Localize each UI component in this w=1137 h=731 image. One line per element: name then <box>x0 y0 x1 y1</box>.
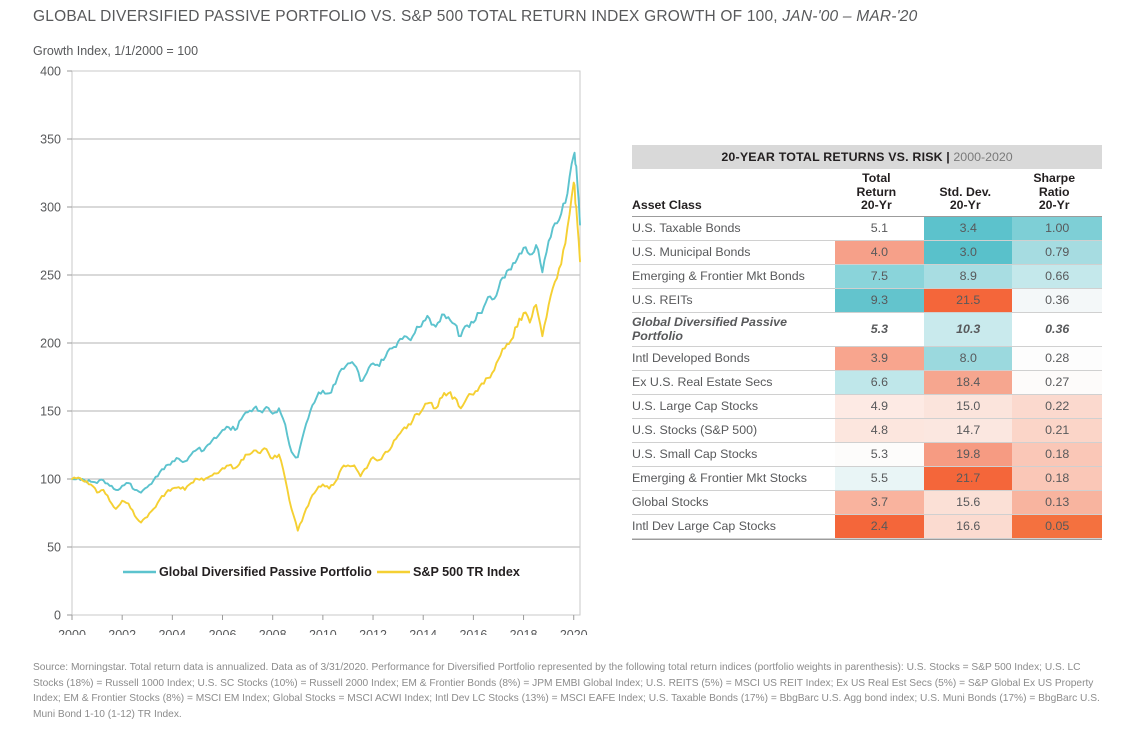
table-head: Asset Class Total Return 20-Yr Std. Dev.… <box>632 172 1102 216</box>
table-body: U.S. Taxable Bonds5.13.41.00U.S. Municip… <box>632 216 1102 538</box>
cell-std-dev: 15.6 <box>924 490 1012 514</box>
col-header-total-return-l3: 20-Yr <box>835 199 918 213</box>
x-tick-label: 2018 <box>510 628 538 635</box>
cell-total-return: 6.6 <box>835 370 924 394</box>
table-row: U.S. Large Cap Stocks4.915.00.22 <box>632 394 1102 418</box>
y-tick-marks <box>67 71 72 615</box>
table-banner-period: 2000-2020 <box>953 150 1012 164</box>
table-row: U.S. Taxable Bonds5.13.41.00 <box>632 216 1102 240</box>
col-header-sharpe-l2: Ratio <box>1012 186 1096 200</box>
table-row: Ex U.S. Real Estate Secs6.618.40.27 <box>632 370 1102 394</box>
cell-total-return: 2.4 <box>835 514 924 538</box>
cell-asset-class: U.S. Municipal Bonds <box>632 240 835 264</box>
cell-sharpe-ratio: 0.18 <box>1012 466 1102 490</box>
y-tick-label: 150 <box>40 405 61 419</box>
table-bottom-rule <box>632 539 1102 540</box>
table-header-row: Asset Class Total Return 20-Yr Std. Dev.… <box>632 172 1102 216</box>
x-axis-labels: 2000200220042006200820102012201420162018… <box>58 628 588 635</box>
cell-sharpe-ratio: 0.18 <box>1012 442 1102 466</box>
cell-asset-class: U.S. REITs <box>632 288 835 312</box>
table-row: Intl Dev Large Cap Stocks2.416.60.05 <box>632 514 1102 538</box>
y-tick-label: 400 <box>40 65 61 79</box>
legend-label-sp500: S&P 500 TR Index <box>413 565 520 579</box>
cell-std-dev: 10.3 <box>924 312 1012 346</box>
y-tick-label: 200 <box>40 337 61 351</box>
table-row: Intl Developed Bonds3.98.00.28 <box>632 346 1102 370</box>
cell-sharpe-ratio: 0.28 <box>1012 346 1102 370</box>
table-row: Emerging & Frontier Mkt Bonds7.58.90.66 <box>632 264 1102 288</box>
table-row: U.S. Small Cap Stocks5.319.80.18 <box>632 442 1102 466</box>
cell-asset-class: Intl Dev Large Cap Stocks <box>632 514 835 538</box>
series-line-global-diversified <box>72 153 580 493</box>
x-tick-label: 2016 <box>459 628 487 635</box>
cell-std-dev: 16.6 <box>924 514 1012 538</box>
cell-total-return: 5.3 <box>835 312 924 346</box>
col-header-sharpe-l1: Sharpe <box>1012 172 1096 186</box>
x-tick-label: 2010 <box>309 628 337 635</box>
page-title-daterange: JAN-'00 – MAR-'20 <box>782 8 917 25</box>
chart-legend: Global Diversified Passive Portfolio S&P… <box>123 565 520 579</box>
growth-chart-svg: 050100150200250300350400 200020022004200… <box>0 60 620 635</box>
y-tick-label: 50 <box>47 541 61 555</box>
series-line-sp500 <box>72 183 580 531</box>
col-header-std-dev-l2: 20-Yr <box>924 199 1006 213</box>
cell-total-return: 4.8 <box>835 418 924 442</box>
cell-sharpe-ratio: 0.27 <box>1012 370 1102 394</box>
cell-total-return: 3.9 <box>835 346 924 370</box>
cell-sharpe-ratio: 0.36 <box>1012 312 1102 346</box>
x-tick-label: 2000 <box>58 628 86 635</box>
growth-chart: 050100150200250300350400 200020022004200… <box>0 60 620 635</box>
legend-label-global-diversified: Global Diversified Passive Portfolio <box>159 565 372 579</box>
growth-index-note: Growth Index, 1/1/2000 = 100 <box>33 44 198 58</box>
table-banner-separator: | <box>946 150 950 164</box>
cell-std-dev: 21.5 <box>924 288 1012 312</box>
cell-total-return: 9.3 <box>835 288 924 312</box>
x-tick-label: 2012 <box>359 628 387 635</box>
cell-sharpe-ratio: 0.21 <box>1012 418 1102 442</box>
col-header-total-return: Total Return 20-Yr <box>835 172 924 216</box>
cell-std-dev: 8.9 <box>924 264 1012 288</box>
cell-total-return: 3.7 <box>835 490 924 514</box>
cell-sharpe-ratio: 0.13 <box>1012 490 1102 514</box>
col-header-asset-class: Asset Class <box>632 172 835 216</box>
table-row: Global Diversified Passive Portfolio5.31… <box>632 312 1102 346</box>
y-tick-label: 0 <box>54 609 61 623</box>
y-tick-label: 100 <box>40 473 61 487</box>
cell-total-return: 5.5 <box>835 466 924 490</box>
cell-std-dev: 3.4 <box>924 216 1012 240</box>
cell-asset-class: Global Diversified Passive Portfolio <box>632 312 835 346</box>
x-tick-marks <box>72 615 574 620</box>
returns-risk-table: 20-YEAR TOTAL RETURNS VS. RISK | 2000-20… <box>632 145 1102 540</box>
cell-sharpe-ratio: 0.22 <box>1012 394 1102 418</box>
cell-sharpe-ratio: 1.00 <box>1012 216 1102 240</box>
cell-std-dev: 15.0 <box>924 394 1012 418</box>
x-tick-label: 2020 <box>560 628 588 635</box>
table-row: Emerging & Frontier Mkt Stocks5.521.70.1… <box>632 466 1102 490</box>
x-tick-label: 2014 <box>409 628 437 635</box>
x-tick-label: 2004 <box>158 628 186 635</box>
cell-asset-class: Intl Developed Bonds <box>632 346 835 370</box>
cell-asset-class: Global Stocks <box>632 490 835 514</box>
table: Asset Class Total Return 20-Yr Std. Dev.… <box>632 172 1102 539</box>
cell-total-return: 4.9 <box>835 394 924 418</box>
cell-sharpe-ratio: 0.36 <box>1012 288 1102 312</box>
page-title-main: GLOBAL DIVERSIFIED PASSIVE PORTFOLIO VS.… <box>33 8 778 25</box>
cell-sharpe-ratio: 0.79 <box>1012 240 1102 264</box>
y-tick-label: 250 <box>40 269 61 283</box>
x-tick-label: 2002 <box>108 628 136 635</box>
footnote-source: Source: Morningstar. Total return data i… <box>33 660 1111 722</box>
cell-asset-class: U.S. Large Cap Stocks <box>632 394 835 418</box>
y-tick-label: 350 <box>40 133 61 147</box>
col-header-sharpe-l3: 20-Yr <box>1012 199 1096 213</box>
cell-std-dev: 18.4 <box>924 370 1012 394</box>
cell-std-dev: 3.0 <box>924 240 1012 264</box>
table-row: U.S. Stocks (S&P 500)4.814.70.21 <box>632 418 1102 442</box>
col-header-std-dev-l1: Std. Dev. <box>924 186 1006 200</box>
cell-asset-class: Emerging & Frontier Mkt Bonds <box>632 264 835 288</box>
cell-total-return: 7.5 <box>835 264 924 288</box>
table-row: Global Stocks3.715.60.13 <box>632 490 1102 514</box>
cell-asset-class: Ex U.S. Real Estate Secs <box>632 370 835 394</box>
cell-std-dev: 21.7 <box>924 466 1012 490</box>
cell-asset-class: Emerging & Frontier Mkt Stocks <box>632 466 835 490</box>
cell-std-dev: 14.7 <box>924 418 1012 442</box>
y-tick-label: 300 <box>40 201 61 215</box>
cell-asset-class: U.S. Stocks (S&P 500) <box>632 418 835 442</box>
cell-total-return: 5.3 <box>835 442 924 466</box>
page-title: GLOBAL DIVERSIFIED PASSIVE PORTFOLIO VS.… <box>33 8 1113 26</box>
cell-std-dev: 8.0 <box>924 346 1012 370</box>
col-header-total-return-l1: Total <box>835 172 918 186</box>
cell-total-return: 5.1 <box>835 216 924 240</box>
cell-std-dev: 19.8 <box>924 442 1012 466</box>
table-row: U.S. REITs9.321.50.36 <box>632 288 1102 312</box>
cell-sharpe-ratio: 0.66 <box>1012 264 1102 288</box>
cell-asset-class: U.S. Small Cap Stocks <box>632 442 835 466</box>
col-header-sharpe-ratio: Sharpe Ratio 20-Yr <box>1012 172 1102 216</box>
cell-sharpe-ratio: 0.05 <box>1012 514 1102 538</box>
col-header-total-return-l2: Return <box>835 186 918 200</box>
x-tick-label: 2008 <box>259 628 287 635</box>
cell-asset-class: U.S. Taxable Bonds <box>632 216 835 240</box>
x-tick-label: 2006 <box>209 628 237 635</box>
table-banner-title: 20-YEAR TOTAL RETURNS VS. RISK <box>721 150 943 164</box>
table-banner: 20-YEAR TOTAL RETURNS VS. RISK | 2000-20… <box>632 145 1102 169</box>
col-header-std-dev: Std. Dev. 20-Yr <box>924 172 1012 216</box>
y-axis-labels: 050100150200250300350400 <box>40 65 61 623</box>
table-row: U.S. Municipal Bonds4.03.00.79 <box>632 240 1102 264</box>
cell-total-return: 4.0 <box>835 240 924 264</box>
